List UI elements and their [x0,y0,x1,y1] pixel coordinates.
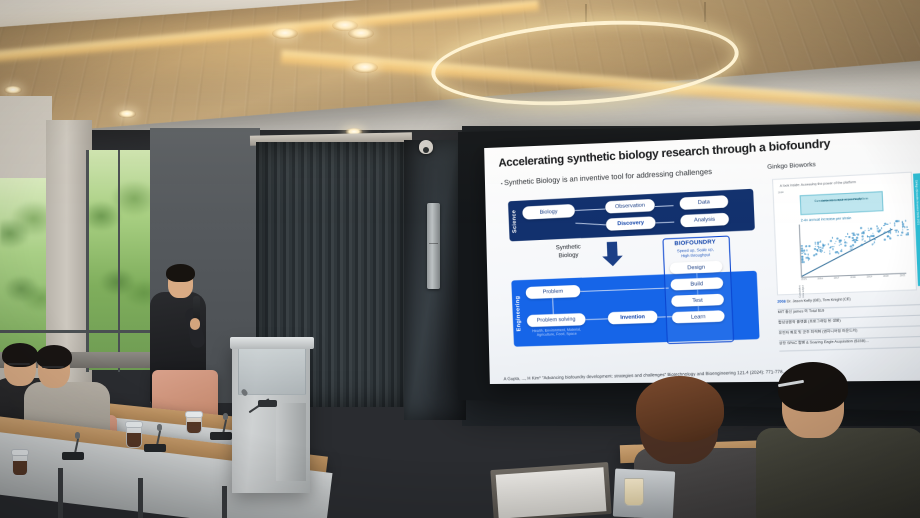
chart-plot-area: Cumulative new output 201520162017201820… [797,220,909,281]
node-problem: Problem [526,285,581,299]
chart-point [878,230,880,232]
cup-coffee-2 [127,433,141,447]
chart-point [801,261,803,263]
chart-point [857,234,859,236]
node-problem-solving: Problem solving [527,313,586,327]
chart-point [832,237,834,239]
podium-side-panel [276,403,306,481]
chart-point [853,234,855,236]
chart-point [814,248,816,250]
laptop-front-screen [496,467,607,518]
window-transom [0,330,158,333]
chart-point [883,224,885,226]
laptop-front[interactable] [490,462,611,518]
chart-point [807,257,809,259]
chart-point [827,243,829,245]
ring-light-stem-b [704,2,706,22]
mic-head-2 [157,424,162,431]
audience-right-2-hair [778,362,848,412]
cup-coffee-1 [13,461,27,475]
chart-xtick: 2016 [817,278,823,280]
chart-point [862,238,864,240]
biofoundry-subtitle-line2: High throughput [681,252,710,258]
chart-xtick: 2015 [801,279,807,281]
audience-left-2-glasses [42,366,64,368]
chart-xtick: 2018 [850,277,856,279]
node-analysis: Analysis [680,213,729,228]
chart-point [803,261,805,263]
downlight-icon-2 [272,28,298,39]
chart-point [902,229,904,231]
downlight-icon-4 [352,62,378,73]
chart-point [845,245,847,247]
presentation-room-photo: Accelerating synthetic biology research … [0,0,920,518]
chart-point [901,232,903,234]
mic-head-1 [75,432,80,439]
chart-title: A look inside: Accessing the power of th… [780,180,856,188]
mic-base-1 [62,452,84,460]
node-biology: Biology [522,204,575,220]
chart-point [808,260,810,262]
chart-point [907,229,909,231]
downlight-icon-3 [348,28,374,39]
timeline-text: 합성생물학 플랫폼 (프로그래밍 된 생물) [778,318,841,324]
mic-base-3 [210,432,232,440]
chart-point [889,228,891,230]
chart-point [873,241,875,243]
chart-xtick: 2021 [900,275,906,277]
podium-mic-base[interactable] [258,400,277,407]
chart-point [902,223,904,225]
chart-point [889,238,891,240]
chart-callout: Cumulative new output across the platfor… [800,191,884,215]
chart-point [804,253,806,255]
node-learn: Learn [672,310,725,323]
node-invention: Invention [608,311,658,325]
desk-leg-2 [138,478,143,518]
chart-point [898,220,900,222]
cup-lid-1 [11,449,29,456]
science-band-label: Science [511,208,518,235]
chart-point [850,246,852,248]
chart-point [873,243,875,245]
chart-point [855,239,857,241]
chart-point [906,226,908,228]
chart-point [905,220,907,222]
slide-citation: A Gupta, ..., H Kim* "Advancing biofound… [504,369,784,381]
window-mullion-mid [118,150,120,372]
chart-point [894,223,896,225]
chart-point [846,236,848,238]
chart-point [807,254,809,256]
timeline-text: MIT 출신 james 외 Total $19 [778,308,825,314]
cup-lid-2 [125,421,143,428]
chart-point [907,234,909,236]
chart-point [840,243,842,245]
transition-arrow-head-icon [602,256,623,267]
chart-point [897,235,899,237]
chart-callout-text: Cumulative new output across the platfor… [803,194,880,211]
chart-point [818,247,820,249]
synthetic-biology-label: Synthetic Biology [538,243,599,261]
chart-point [805,245,807,247]
ytick-4: 2008 [778,192,784,194]
mic-base-2 [144,444,166,452]
node-observation: Observation [605,199,655,214]
chart-xtick: 2019 [867,276,873,278]
laptop-right[interactable] [613,468,675,518]
desk-leg-1 [58,468,63,518]
chart-point [840,250,842,252]
podium-glass-panel [238,345,306,395]
chart-point [801,245,803,247]
chart-point [861,244,863,246]
chart-point [860,227,862,229]
chart-point [853,232,855,234]
podium-top [230,337,314,349]
presenter-hand [190,318,200,330]
chart-point [824,252,826,254]
chart-sidebar-tag-text: Ginkgo Bioworks Investor Deck 2021 [914,180,919,225]
chart-point [874,239,876,241]
chart-xtick: 2017 [834,277,840,279]
cup-coffee-3 [187,422,201,433]
chart-xtick: 2020 [883,276,889,278]
door-handle[interactable] [427,203,440,289]
chart-point [815,253,817,255]
synthetic-biology-line2: Biology [558,252,578,259]
chart-point [890,233,892,235]
desk-leg-3 [222,486,227,518]
chart-point [898,231,900,233]
timeline-text: Dr. Jason Kelly (BE), Tom Knight (CE) [787,297,851,303]
chart-point [846,242,848,244]
chart-point [829,253,831,255]
chart-point [852,245,854,247]
chart-point [847,233,849,235]
chart-point [881,228,883,230]
chart-point [862,236,864,238]
audience-left-1-glasses [8,363,30,365]
ceiling-camera-icon [419,140,433,154]
chart-point [815,245,817,247]
chart-point [819,241,821,243]
foliage-texture-left [0,178,48,363]
chart-point [848,236,850,238]
chart-point [901,221,903,223]
chart-point [895,231,897,233]
chart-point [816,249,818,251]
chart-point [900,234,902,236]
chart-point [833,246,835,248]
node-discovery: Discovery [606,216,656,231]
downlight-icon-5 [118,110,136,118]
timeline-year: 2008 [777,299,787,304]
audience-right-1-hair [636,376,724,442]
chart-point [889,222,891,224]
chart-annotation: 2-4x annual increase per strain [801,216,852,223]
node-test: Test [671,294,724,307]
panel-heading: Ginkgo Bioworks [767,156,920,171]
chart-point [837,238,839,240]
chart-point [820,252,822,254]
presenter-hair [166,264,195,282]
paper-cup-body [624,478,644,506]
chart-point [809,245,811,247]
chart-point [817,243,819,245]
chart-point [895,220,897,222]
biofoundry-diagram: Science Biology Observation Discovery Da… [500,188,764,351]
chart-point [869,239,871,241]
ginkgo-panel: Ginkgo Bioworks A look inside: Accessing… [767,156,920,371]
chart-point [868,230,870,232]
presentation-slide: Accelerating synthetic biology research … [484,129,920,384]
chart-point [863,232,865,234]
window-mullion-left [86,150,89,372]
chart-point [884,239,886,241]
downlight-icon-7 [4,86,22,94]
chart-point [870,228,872,230]
mic-head-3 [223,413,228,420]
chart-point [854,241,856,243]
chart-point [894,225,896,227]
chart-point [832,248,834,250]
window-trees [88,150,154,370]
chart-point [838,252,840,254]
node-data: Data [679,195,728,210]
foliage-texture [88,150,154,370]
chart-point [829,250,831,252]
chart-point [873,235,875,237]
synthetic-biology-line1: Synthetic [556,244,581,251]
chart-point [872,232,874,234]
chart-point [834,243,836,245]
chart-ylabel: Cumulative new output [798,285,805,298]
ginkgo-chart: A look inside: Accessing the power of th… [772,172,917,296]
chart-point [853,239,855,241]
chart-point [886,224,888,226]
slide-bullet: Synthetic Biology is an inventive tool f… [501,167,713,188]
chart-point [844,239,846,241]
window-far-left [0,178,48,363]
chart-point [861,239,863,241]
audience-right-2-body [756,428,920,518]
cup-lid-3 [185,411,203,418]
chart-point [801,259,803,261]
chart-point [806,250,808,252]
